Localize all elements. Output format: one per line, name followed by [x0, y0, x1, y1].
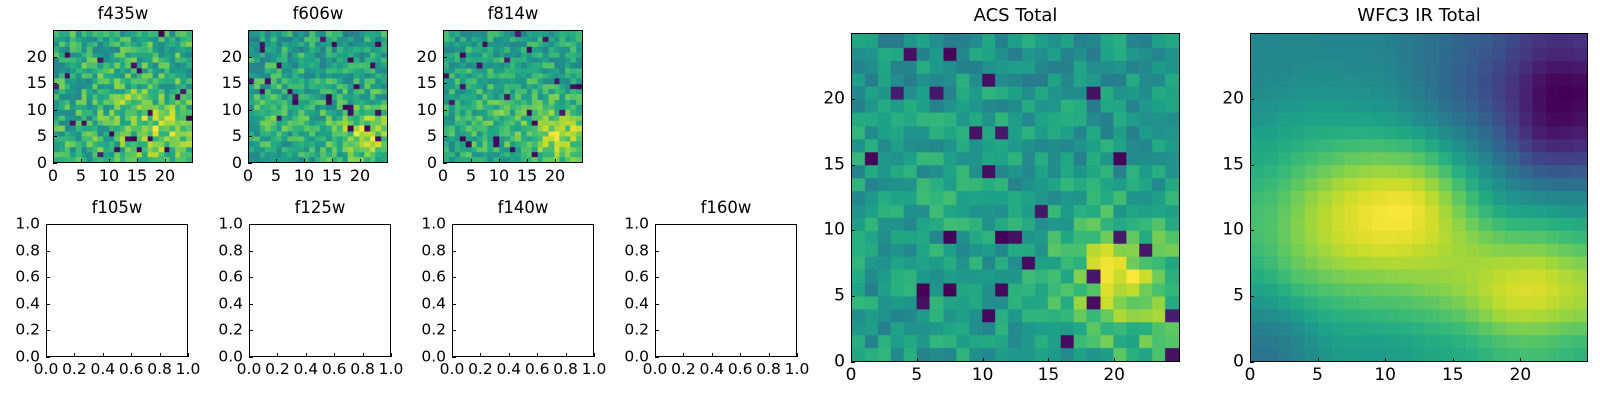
ytick-mark-wfc3-ir-total-3 [1250, 165, 1254, 166]
xtick-label-f814w-3: 15 [517, 168, 537, 184]
ytick-label-f105w-2: 0.4 [0, 296, 40, 312]
xtick-mark-f140w-4 [566, 353, 567, 357]
ytick-label-f160w-1: 0.2 [599, 323, 649, 339]
xtick-label-f606w-4: 20 [350, 168, 370, 184]
ytick-label-f606w-3: 15 [192, 75, 242, 91]
figure-canvas: f435w f606w f814w f105w f125w f140w f160… [0, 0, 1600, 400]
ytick-mark-acs-total-1 [851, 296, 855, 297]
ytick-label-f140w-2: 0.4 [396, 296, 446, 312]
ytick-label-f435w-3: 15 [0, 75, 47, 91]
xtick-label-f160w-2: 0.4 [699, 362, 724, 378]
ytick-mark-f435w-4 [53, 57, 57, 58]
ytick-mark-wfc3-ir-total-4 [1250, 99, 1254, 100]
xtick-label-f606w-0: 0 [243, 168, 253, 184]
xtick-mark-f140w-3 [537, 353, 538, 357]
ytick-mark-f125w-1 [249, 330, 253, 331]
xtick-mark-f160w-2 [712, 353, 713, 357]
ytick-mark-f140w-0 [452, 357, 456, 358]
ytick-label-f105w-4: 0.8 [0, 243, 40, 259]
ytick-mark-f105w-1 [46, 330, 50, 331]
ytick-label-f814w-0: 0 [387, 155, 437, 171]
ytick-label-f160w-5: 1.0 [599, 216, 649, 232]
xtick-mark-f125w-5 [391, 353, 392, 357]
xtick-label-f435w-4: 20 [155, 168, 175, 184]
xtick-mark-f125w-2 [306, 353, 307, 357]
ytick-mark-f140w-5 [452, 224, 456, 225]
xtick-label-f814w-2: 10 [489, 168, 509, 184]
xtick-label-f814w-4: 20 [545, 168, 565, 184]
ytick-mark-f160w-1 [655, 330, 659, 331]
ytick-label-f814w-2: 10 [387, 102, 437, 118]
ytick-label-f606w-2: 10 [192, 102, 242, 118]
xtick-mark-f125w-3 [334, 353, 335, 357]
ytick-mark-f105w-0 [46, 357, 50, 358]
ytick-mark-f160w-5 [655, 224, 659, 225]
ytick-mark-f606w-0 [248, 163, 252, 164]
ytick-label-f125w-5: 1.0 [193, 216, 243, 232]
ytick-mark-f140w-2 [452, 304, 456, 305]
xtick-label-acs-total-3: 15 [1038, 367, 1060, 384]
ytick-label-f435w-1: 5 [0, 128, 47, 144]
ytick-label-f125w-0: 0.0 [193, 349, 243, 365]
tick-layer: 0510152005101520051015200510152005101520… [0, 0, 1600, 400]
xtick-mark-f125w-1 [277, 353, 278, 357]
ytick-mark-f160w-3 [655, 277, 659, 278]
xtick-mark-wfc3-ir-total-1 [1318, 358, 1319, 362]
ytick-label-f606w-0: 0 [192, 155, 242, 171]
xtick-label-f160w-1: 0.2 [671, 362, 696, 378]
xtick-mark-f160w-3 [740, 353, 741, 357]
xtick-mark-f606w-4 [360, 159, 361, 163]
ytick-mark-f140w-4 [452, 251, 456, 252]
ytick-label-f435w-4: 20 [0, 49, 47, 65]
xtick-mark-f435w-4 [165, 159, 166, 163]
ytick-label-acs-total-1: 5 [795, 288, 845, 305]
ytick-label-f160w-3: 0.6 [599, 269, 649, 285]
ytick-label-f814w-3: 15 [387, 75, 437, 91]
xtick-label-wfc3-ir-total-1: 5 [1312, 367, 1323, 384]
ytick-mark-f606w-1 [248, 136, 252, 137]
xtick-label-f814w-1: 5 [466, 168, 476, 184]
xtick-mark-f105w-2 [103, 353, 104, 357]
ytick-label-acs-total-4: 20 [795, 90, 845, 107]
ytick-label-f160w-2: 0.4 [599, 296, 649, 312]
ytick-mark-f814w-1 [443, 136, 447, 137]
xtick-label-f160w-4: 0.8 [756, 362, 781, 378]
xtick-label-f435w-3: 15 [127, 168, 147, 184]
xtick-label-f435w-0: 0 [48, 168, 58, 184]
xtick-label-wfc3-ir-total-2: 10 [1374, 367, 1396, 384]
xtick-mark-wfc3-ir-total-2 [1385, 358, 1386, 362]
ytick-mark-f140w-3 [452, 277, 456, 278]
xtick-label-f606w-1: 5 [271, 168, 281, 184]
xtick-label-f125w-2: 0.4 [293, 362, 318, 378]
ytick-label-wfc3-ir-total-1: 5 [1194, 288, 1244, 305]
ytick-mark-f160w-0 [655, 357, 659, 358]
xtick-mark-f125w-4 [363, 353, 364, 357]
xtick-label-wfc3-ir-total-3: 15 [1442, 367, 1464, 384]
xtick-mark-f606w-1 [276, 159, 277, 163]
xtick-label-f606w-3: 15 [322, 168, 342, 184]
xtick-mark-f814w-3 [527, 159, 528, 163]
xtick-mark-f105w-4 [160, 353, 161, 357]
xtick-label-acs-total-0: 0 [846, 367, 857, 384]
xtick-label-acs-total-4: 20 [1103, 367, 1125, 384]
ytick-mark-f125w-2 [249, 304, 253, 305]
xtick-mark-f140w-1 [480, 353, 481, 357]
ytick-label-acs-total-2: 10 [795, 222, 845, 239]
ytick-mark-f814w-4 [443, 57, 447, 58]
ytick-mark-f105w-5 [46, 224, 50, 225]
xtick-label-f105w-3: 0.6 [119, 362, 144, 378]
ytick-label-f814w-4: 20 [387, 49, 437, 65]
ytick-label-f140w-5: 1.0 [396, 216, 446, 232]
ytick-label-f160w-4: 0.8 [599, 243, 649, 259]
xtick-mark-f606w-2 [304, 159, 305, 163]
ytick-mark-f606w-4 [248, 57, 252, 58]
xtick-mark-f105w-3 [131, 353, 132, 357]
xtick-mark-f435w-2 [109, 159, 110, 163]
xtick-label-f125w-1: 0.2 [265, 362, 290, 378]
xtick-mark-f435w-3 [137, 159, 138, 163]
ytick-label-acs-total-3: 15 [795, 156, 845, 173]
xtick-label-f140w-2: 0.4 [496, 362, 521, 378]
ytick-mark-f814w-3 [443, 83, 447, 84]
xtick-label-f140w-1: 0.2 [468, 362, 493, 378]
ytick-label-wfc3-ir-total-3: 15 [1194, 156, 1244, 173]
ytick-mark-f125w-5 [249, 224, 253, 225]
xtick-label-wfc3-ir-total-4: 20 [1510, 367, 1532, 384]
ytick-label-f125w-4: 0.8 [193, 243, 243, 259]
xtick-mark-f814w-4 [555, 159, 556, 163]
ytick-label-f140w-3: 0.6 [396, 269, 446, 285]
ytick-mark-f105w-4 [46, 251, 50, 252]
ytick-mark-f105w-3 [46, 277, 50, 278]
xtick-mark-f140w-2 [509, 353, 510, 357]
xtick-label-f105w-1: 0.2 [62, 362, 87, 378]
xtick-label-f125w-4: 0.8 [350, 362, 375, 378]
xtick-label-f814w-0: 0 [438, 168, 448, 184]
ytick-mark-wfc3-ir-total-0 [1250, 362, 1254, 363]
ytick-mark-f160w-4 [655, 251, 659, 252]
ytick-label-f140w-1: 0.2 [396, 323, 446, 339]
ytick-mark-acs-total-2 [851, 230, 855, 231]
xtick-mark-f160w-1 [683, 353, 684, 357]
ytick-label-f435w-0: 0 [0, 155, 47, 171]
ytick-mark-f606w-2 [248, 110, 252, 111]
xtick-mark-acs-total-4 [1114, 358, 1115, 362]
ytick-mark-f160w-2 [655, 304, 659, 305]
xtick-label-f160w-3: 0.6 [728, 362, 753, 378]
ytick-label-f105w-3: 0.6 [0, 269, 40, 285]
ytick-mark-f140w-1 [452, 330, 456, 331]
xtick-mark-f140w-5 [594, 353, 595, 357]
xtick-label-acs-total-2: 10 [972, 367, 994, 384]
ytick-mark-f814w-2 [443, 110, 447, 111]
ytick-label-f125w-1: 0.2 [193, 323, 243, 339]
ytick-label-f160w-0: 0.0 [599, 349, 649, 365]
ytick-mark-f125w-0 [249, 357, 253, 358]
xtick-label-f105w-2: 0.4 [90, 362, 115, 378]
ytick-mark-wfc3-ir-total-1 [1250, 296, 1254, 297]
ytick-label-f105w-1: 0.2 [0, 323, 40, 339]
xtick-mark-f606w-3 [332, 159, 333, 163]
ytick-mark-f125w-3 [249, 277, 253, 278]
ytick-label-wfc3-ir-total-4: 20 [1194, 90, 1244, 107]
ytick-label-f125w-3: 0.6 [193, 269, 243, 285]
xtick-mark-f814w-2 [499, 159, 500, 163]
xtick-mark-f435w-1 [81, 159, 82, 163]
ytick-label-f606w-1: 5 [192, 128, 242, 144]
ytick-label-f140w-0: 0.0 [396, 349, 446, 365]
ytick-mark-f606w-3 [248, 83, 252, 84]
xtick-mark-acs-total-3 [1048, 358, 1049, 362]
xtick-label-wfc3-ir-total-0: 0 [1245, 367, 1256, 384]
xtick-label-f435w-2: 10 [99, 168, 119, 184]
ytick-label-wfc3-ir-total-0: 0 [1194, 354, 1244, 371]
ytick-mark-acs-total-0 [851, 362, 855, 363]
ytick-label-f105w-5: 1.0 [0, 216, 40, 232]
ytick-label-f125w-2: 0.4 [193, 296, 243, 312]
xtick-label-f105w-4: 0.8 [147, 362, 172, 378]
ytick-mark-f814w-0 [443, 163, 447, 164]
xtick-mark-f105w-5 [188, 353, 189, 357]
ytick-mark-f435w-2 [53, 110, 57, 111]
xtick-mark-wfc3-ir-total-3 [1453, 358, 1454, 362]
ytick-label-acs-total-0: 0 [795, 354, 845, 371]
ytick-label-f814w-1: 5 [387, 128, 437, 144]
ytick-label-f105w-0: 0.0 [0, 349, 40, 365]
ytick-mark-f105w-2 [46, 304, 50, 305]
xtick-label-f435w-1: 5 [76, 168, 86, 184]
xtick-mark-acs-total-1 [917, 358, 918, 362]
ytick-mark-f435w-1 [53, 136, 57, 137]
ytick-mark-acs-total-4 [851, 99, 855, 100]
xtick-mark-f105w-1 [74, 353, 75, 357]
xtick-label-f140w-3: 0.6 [525, 362, 550, 378]
xtick-mark-f814w-1 [471, 159, 472, 163]
ytick-mark-acs-total-3 [851, 165, 855, 166]
ytick-mark-f435w-3 [53, 83, 57, 84]
xtick-mark-wfc3-ir-total-4 [1520, 358, 1521, 362]
xtick-label-f140w-4: 0.8 [553, 362, 578, 378]
ytick-label-f140w-4: 0.8 [396, 243, 446, 259]
ytick-label-f435w-2: 10 [0, 102, 47, 118]
ytick-mark-wfc3-ir-total-2 [1250, 230, 1254, 231]
ytick-mark-f125w-4 [249, 251, 253, 252]
ytick-label-wfc3-ir-total-2: 10 [1194, 222, 1244, 239]
xtick-label-f125w-3: 0.6 [322, 362, 347, 378]
ytick-mark-f435w-0 [53, 163, 57, 164]
xtick-mark-acs-total-2 [983, 358, 984, 362]
xtick-label-acs-total-1: 5 [911, 367, 922, 384]
ytick-label-f606w-4: 20 [192, 49, 242, 65]
xtick-label-f606w-2: 10 [294, 168, 314, 184]
xtick-mark-f160w-4 [769, 353, 770, 357]
